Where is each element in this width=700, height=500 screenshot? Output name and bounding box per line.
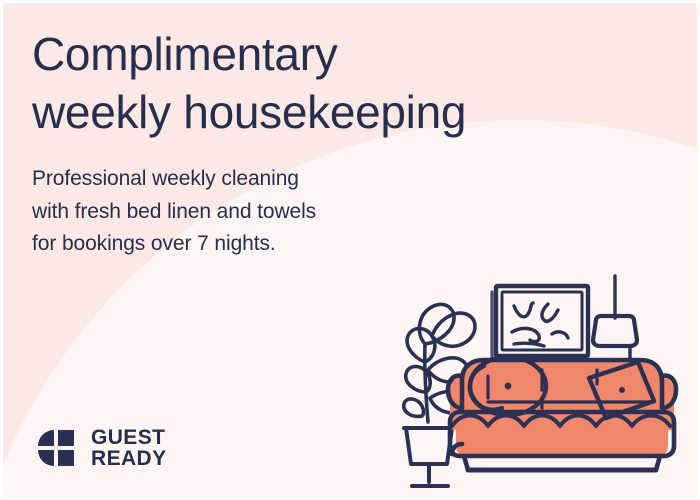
promotional-banner: Complimentary weekly housekeeping Profes… (0, 0, 700, 500)
pendant-lamp-group (593, 276, 637, 366)
living-room-illustration (392, 258, 700, 500)
framed-artwork-group (492, 286, 588, 360)
guestready-logo: GUEST READY (32, 424, 167, 472)
guestready-wordmark: GUEST READY (91, 427, 167, 470)
subcopy: Professional weekly cleaning with fresh … (32, 163, 452, 261)
guestready-logo-mark-icon (32, 424, 80, 472)
sofa-group (448, 357, 676, 470)
headline: Complimentary weekly housekeeping (32, 26, 612, 142)
